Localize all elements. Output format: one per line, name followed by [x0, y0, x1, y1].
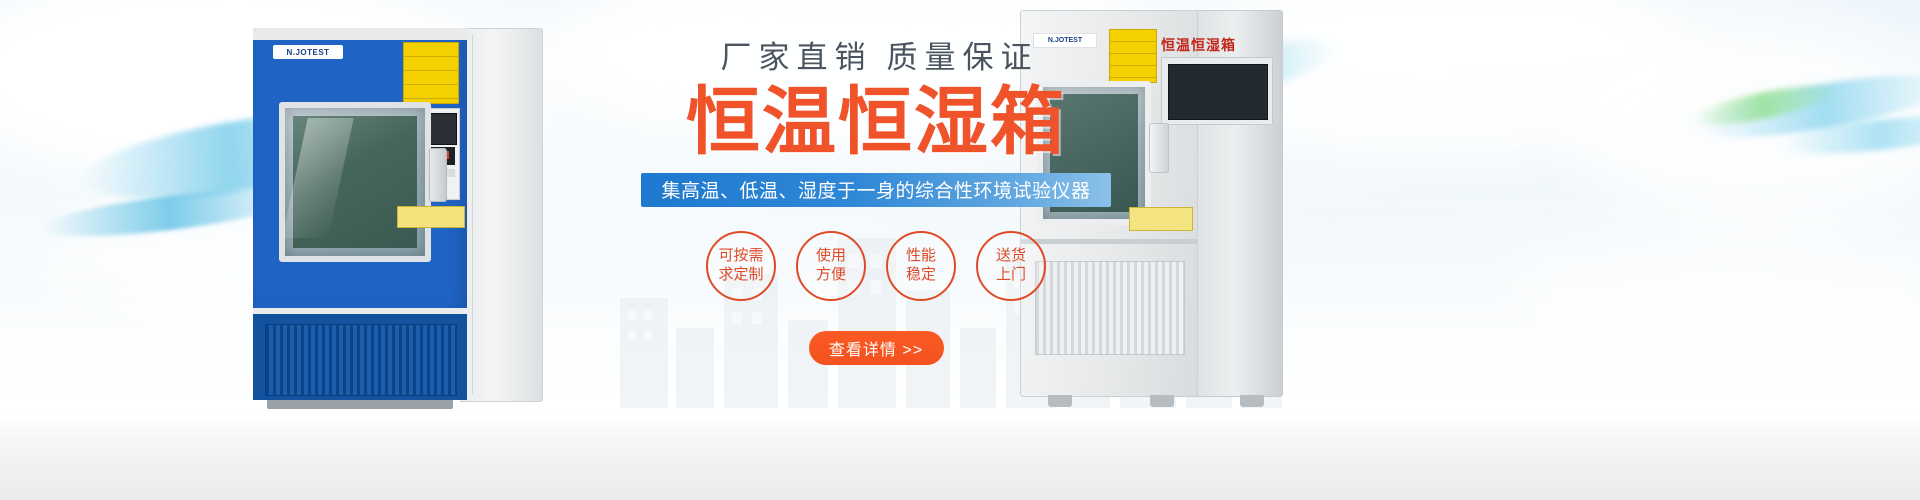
green-ribbon	[1689, 77, 1841, 134]
feature-badge-easy-use[interactable]: 使用 方便	[796, 231, 866, 301]
feature-badge-list: 可按需 求定制 使用 方便 性能 稳定 送货 上门	[596, 231, 1156, 301]
right-chamber-feet	[1030, 395, 1270, 407]
badge-line-2: 上门	[996, 266, 1026, 284]
banner-tagline: 厂家直销质量保证	[596, 42, 1156, 73]
chamber-foot	[1150, 395, 1174, 407]
left-chamber-top-cap	[253, 28, 467, 40]
badge-line-2: 求定制	[718, 266, 763, 284]
badge-line-1: 送货	[996, 247, 1026, 265]
left-chamber-door	[279, 102, 431, 262]
badge-line-2: 方便	[816, 266, 846, 284]
chamber-foot	[1240, 395, 1264, 407]
feature-badge-custom[interactable]: 可按需 求定制	[706, 231, 776, 301]
feature-badge-stable[interactable]: 性能 稳定	[886, 231, 956, 301]
product-image-left-chamber: N.JOTEST	[253, 28, 543, 400]
view-details-button[interactable]: 查看详情 >>	[809, 331, 944, 365]
chamber-foot	[1048, 395, 1072, 407]
cyan-ribbon	[1779, 110, 1920, 161]
left-brand-text: N.JOTEST	[286, 48, 329, 57]
left-chamber-seam	[472, 34, 473, 394]
badge-line-1: 使用	[816, 247, 846, 265]
cloud-wisp	[1500, 210, 1920, 360]
left-chamber-vent-grille	[265, 324, 457, 396]
feature-badge-delivery[interactable]: 送货 上门	[976, 231, 1046, 301]
banner-subtitle-text: 集高温、低温、湿度于一身的综合性环境试验仪器	[661, 176, 1090, 203]
badge-line-1: 可按需	[718, 247, 763, 265]
right-panel-display	[1168, 64, 1268, 120]
ground-band	[0, 414, 1920, 500]
left-chamber-brand-logo: N.JOTEST	[273, 45, 343, 59]
banner-headline: 恒温恒湿箱	[596, 83, 1156, 161]
badge-line-2: 稳定	[906, 266, 936, 284]
right-chamber-title-text: 恒温恒湿箱	[1161, 35, 1269, 53]
tagline-right-text: 质量保证	[887, 40, 1039, 75]
right-control-panel	[1161, 57, 1273, 125]
banner-copy-block: 厂家直销质量保证 恒温恒湿箱 集高温、低温、湿度于一身的综合性环境试验仪器 可按…	[596, 42, 1156, 365]
warning-sticker-icon	[403, 42, 459, 104]
left-door-handle	[429, 148, 447, 202]
cta-container: 查看详情 >>	[596, 331, 1156, 365]
tagline-left-text: 厂家直销	[721, 40, 873, 75]
badge-line-1: 性能	[906, 247, 936, 265]
left-chamber-body: N.JOTEST	[253, 28, 467, 400]
banner-subtitle-bar: 集高温、低温、湿度于一身的综合性环境试验仪器	[641, 173, 1111, 207]
left-chamber-feet	[267, 400, 453, 409]
cloud-wisp	[1560, 30, 1920, 230]
product-banner: N.JOTEST N	[0, 0, 1920, 500]
left-spec-label	[397, 206, 465, 228]
